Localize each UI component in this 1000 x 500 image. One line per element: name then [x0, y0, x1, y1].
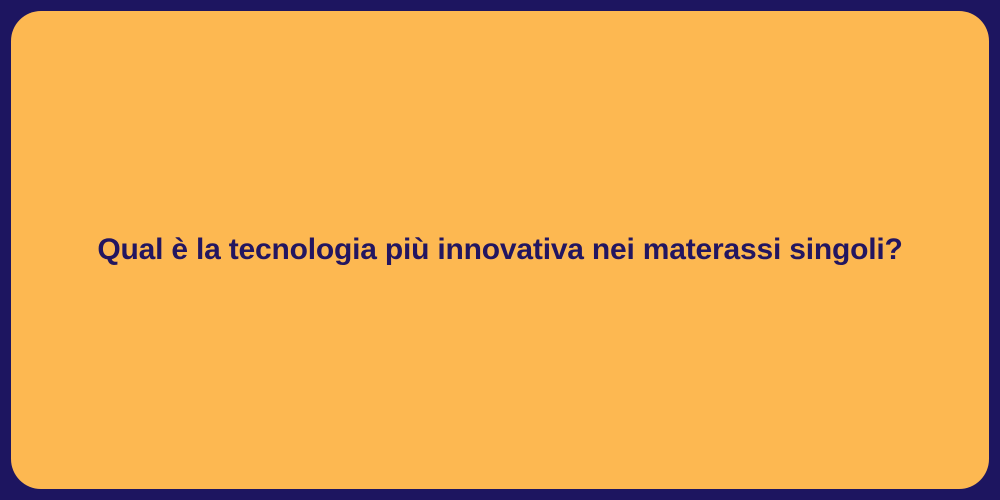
banner-frame: Qual è la tecnologia più innovativa nei …: [0, 0, 1000, 500]
banner-card: Qual è la tecnologia più innovativa nei …: [11, 11, 989, 489]
page-title: Qual è la tecnologia più innovativa nei …: [97, 231, 902, 269]
